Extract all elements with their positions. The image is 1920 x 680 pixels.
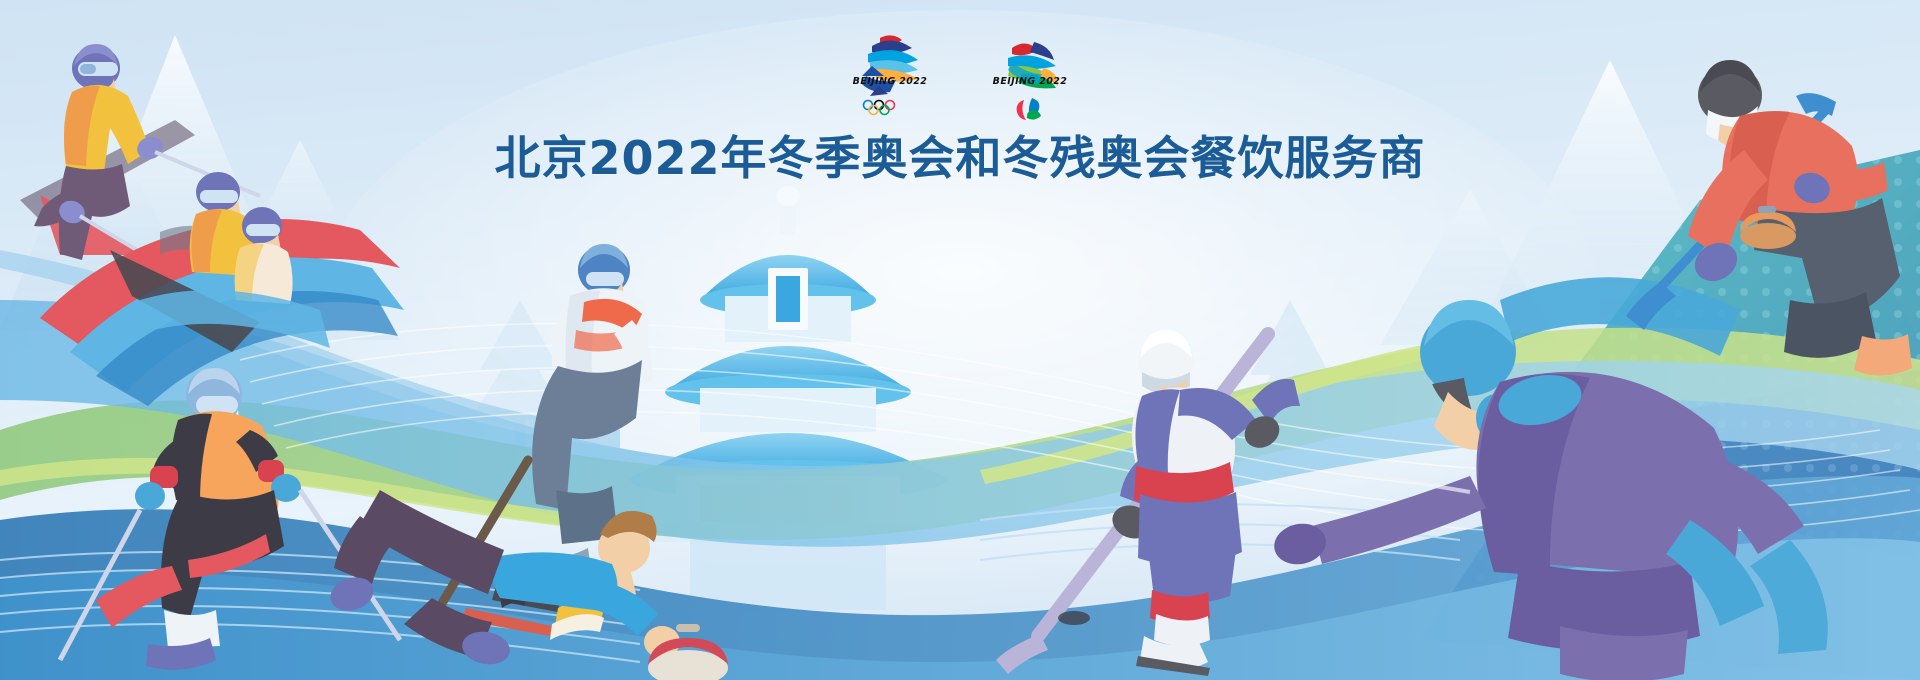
beijing-2022-paralympic-emblem: BEIJING 2022	[982, 24, 1078, 120]
olympic-emblem-wordmark: BEIJING 2022	[842, 76, 938, 87]
athlete-curler-blue	[326, 460, 728, 680]
emblem-row: BEIJING 2022 BEIJING 20	[0, 24, 1920, 120]
olympic-rings	[864, 101, 895, 115]
paralympic-emblem-wordmark: BEIJING 2022	[982, 76, 1078, 87]
beijing-2022-catering-banner: BEIJING 2022 BEIJING 20	[0, 0, 1920, 680]
athlete-speed-skater-purple	[1270, 277, 1827, 680]
beijing-2022-olympic-emblem: BEIJING 2022	[842, 24, 938, 120]
agitos-icon	[1017, 98, 1041, 120]
athlete-cross-country-skier-orange	[60, 368, 400, 670]
athlete-ice-hockey-player	[996, 330, 1300, 676]
page-title: 北京2022年冬季奥会和冬残奥会餐饮服务商	[0, 122, 1920, 188]
